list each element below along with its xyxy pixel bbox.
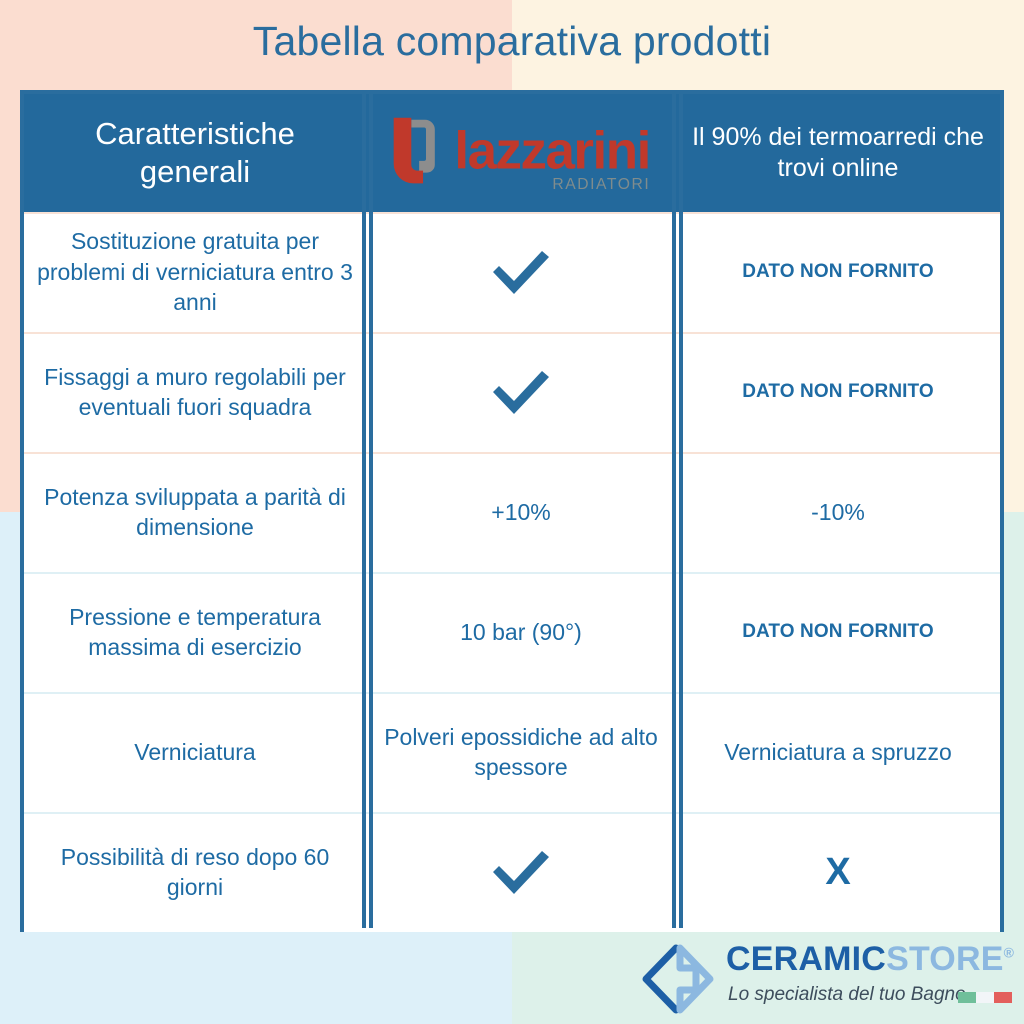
lazzarini-value-cell: +10% <box>366 452 676 572</box>
table-row: Sostituzione gratuita per problemi di ve… <box>24 212 1000 332</box>
header-cell-lazzarini-logo: lazzarini RADIATORI <box>366 94 676 212</box>
registered-mark: ® <box>1004 945 1015 961</box>
check-icon <box>490 848 552 896</box>
feature-cell: Fissaggi a muro regolabili per eventuali… <box>24 332 366 452</box>
competitor-value: -10% <box>811 497 865 527</box>
competitor-value-cell: -10% <box>676 452 1000 572</box>
lazzarini-value-cell <box>366 212 676 332</box>
competitor-value-cell: DATO NON FORNITO <box>676 572 1000 692</box>
wordmark-store: STORE <box>886 940 1004 978</box>
flag-stripe-green <box>958 992 976 1003</box>
feature-cell: Sostituzione gratuita per problemi di ve… <box>24 212 366 332</box>
ceramicstore-logo: CERAMICSTORE® Lo specialista del tuo Bag… <box>640 942 1012 1016</box>
feature-cell: Potenza sviluppata a parità di dimension… <box>24 452 366 572</box>
table-row: Possibilità di reso dopo 60 giorni X <box>24 812 1000 932</box>
svg-text:lazzarini: lazzarini <box>454 122 649 181</box>
feature-cell: Possibilità di reso dopo 60 giorni <box>24 812 366 932</box>
row-divider <box>24 452 1000 454</box>
feature-cell: Verniciatura <box>24 692 366 812</box>
row-divider <box>24 572 1000 574</box>
lazzarini-logo-icon: lazzarini RADIATORI <box>378 111 664 195</box>
ceramicstore-tagline: Lo specialista del tuo Bagno <box>728 984 966 1006</box>
row-divider <box>24 212 1000 214</box>
page-title: Tabella comparativa prodotti <box>0 17 1024 66</box>
flag-stripe-red <box>994 992 1012 1003</box>
feature-cell: Pressione e temperatura massima di eserc… <box>24 572 366 692</box>
row-divider <box>24 332 1000 334</box>
competitor-value: Verniciatura a spruzzo <box>724 737 952 767</box>
check-icon <box>490 368 552 416</box>
competitor-value: DATO NON FORNITO <box>742 259 934 284</box>
header-cell-features: Caratteristiche generali <box>24 94 366 212</box>
competitor-value-cell: DATO NON FORNITO <box>676 212 1000 332</box>
lazzarini-value-cell: Polveri epossidiche ad alto spessore <box>366 692 676 812</box>
competitor-value-cell: Verniciatura a spruzzo <box>676 692 1000 812</box>
header-cell-competitor: Il 90% dei termoarredi che trovi online <box>676 94 1000 212</box>
feature-label: Sostituzione gratuita per problemi di ve… <box>36 226 354 317</box>
header-label-features: Caratteristiche generali <box>36 115 354 191</box>
table-row: Pressione e temperatura massima di eserc… <box>24 572 1000 692</box>
competitor-value: DATO NON FORNITO <box>742 619 934 644</box>
competitor-value-cell: DATO NON FORNITO <box>676 332 1000 452</box>
feature-label: Possibilità di reso dopo 60 giorni <box>36 842 354 903</box>
table-row: Fissaggi a muro regolabili per eventuali… <box>24 332 1000 452</box>
wordmark-ceramic: CERAMIC <box>726 940 886 978</box>
competitor-value: DATO NON FORNITO <box>742 379 934 404</box>
lazzarini-value: +10% <box>491 497 550 527</box>
lazzarini-value: 10 bar (90°) <box>460 617 582 647</box>
check-icon <box>490 248 552 296</box>
feature-label: Pressione e temperatura massima di eserc… <box>36 602 354 663</box>
row-divider <box>24 692 1000 694</box>
header-label-competitor: Il 90% dei termoarredi che trovi online <box>688 122 988 184</box>
feature-label: Fissaggi a muro regolabili per eventuali… <box>36 362 354 423</box>
competitor-value-cell: X <box>676 812 1000 932</box>
feature-label: Verniciatura <box>134 737 255 767</box>
x-mark-icon: X <box>825 847 850 897</box>
lazzarini-value-cell <box>366 812 676 932</box>
lazzarini-value-cell: 10 bar (90°) <box>366 572 676 692</box>
ceramicstore-wordmark: CERAMICSTORE® <box>726 942 1014 978</box>
chevron-diamond-icon <box>640 944 716 1014</box>
row-divider <box>24 812 1000 814</box>
italian-flag-icon <box>958 992 1012 1003</box>
lazzarini-value-cell <box>366 332 676 452</box>
svg-text:RADIATORI: RADIATORI <box>552 176 650 193</box>
comparison-table: Caratteristiche generali lazzarini RADIA… <box>20 90 1004 932</box>
lazzarini-value: Polveri epossidiche ad alto spessore <box>378 722 664 783</box>
flag-stripe-white <box>976 992 994 1003</box>
feature-label: Potenza sviluppata a parità di dimension… <box>36 482 354 543</box>
table-row: Potenza sviluppata a parità di dimension… <box>24 452 1000 572</box>
table-header-row: Caratteristiche generali lazzarini RADIA… <box>24 94 1000 212</box>
table-row: Verniciatura Polveri epossidiche ad alto… <box>24 692 1000 812</box>
